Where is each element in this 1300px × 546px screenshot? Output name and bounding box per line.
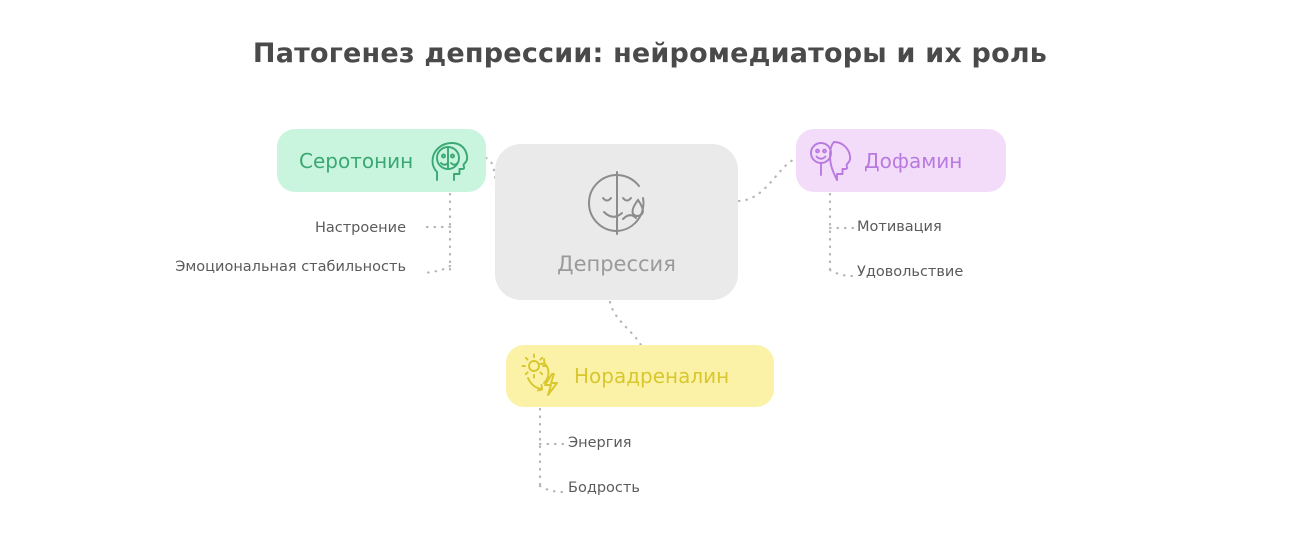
head-with-smiley-icon xyxy=(808,139,854,183)
leaf-label-noradrenaline-2: Бодрость xyxy=(568,480,640,496)
split-happy-sad-face-icon xyxy=(582,168,652,238)
diagram-canvas: Патогенез депрессии: нейромедиаторы и их… xyxy=(0,0,1300,546)
leaf-label-noradrenaline-1: Энергия xyxy=(568,435,632,451)
leaf-label-serotonin-2: Эмоциональная стабильность xyxy=(175,259,406,275)
head-with-face-icon xyxy=(430,139,472,183)
branch-node-noradrenaline-label: Норадреналин xyxy=(574,364,729,388)
wire-dopamine-leaf-2 xyxy=(830,270,853,276)
wire-serotonin-leaf-2 xyxy=(424,266,450,273)
central-node-label: Депрессия xyxy=(557,252,676,276)
branch-node-serotonin[interactable]: Серотонин xyxy=(277,129,486,192)
branch-node-serotonin-label: Серотонин xyxy=(299,149,413,173)
leaf-label-dopamine-1: Мотивация xyxy=(857,219,942,235)
branch-node-dopamine-label: Дофамин xyxy=(864,149,962,173)
leaf-label-serotonin-1: Настроение xyxy=(315,220,406,236)
branch-node-dopamine[interactable]: Дофамин xyxy=(796,129,1006,192)
wire-central-to-noradrenaline xyxy=(610,302,641,345)
branch-node-noradrenaline[interactable]: Норадреналин xyxy=(506,345,774,407)
central-node[interactable]: Депрессия xyxy=(495,144,738,300)
wire-noradrenaline-leaf-2 xyxy=(540,486,563,492)
sun-arrow-lightning-icon xyxy=(520,353,566,399)
wire-central-to-dopamine xyxy=(739,159,795,201)
leaf-label-dopamine-2: Удовольствие xyxy=(857,264,963,280)
